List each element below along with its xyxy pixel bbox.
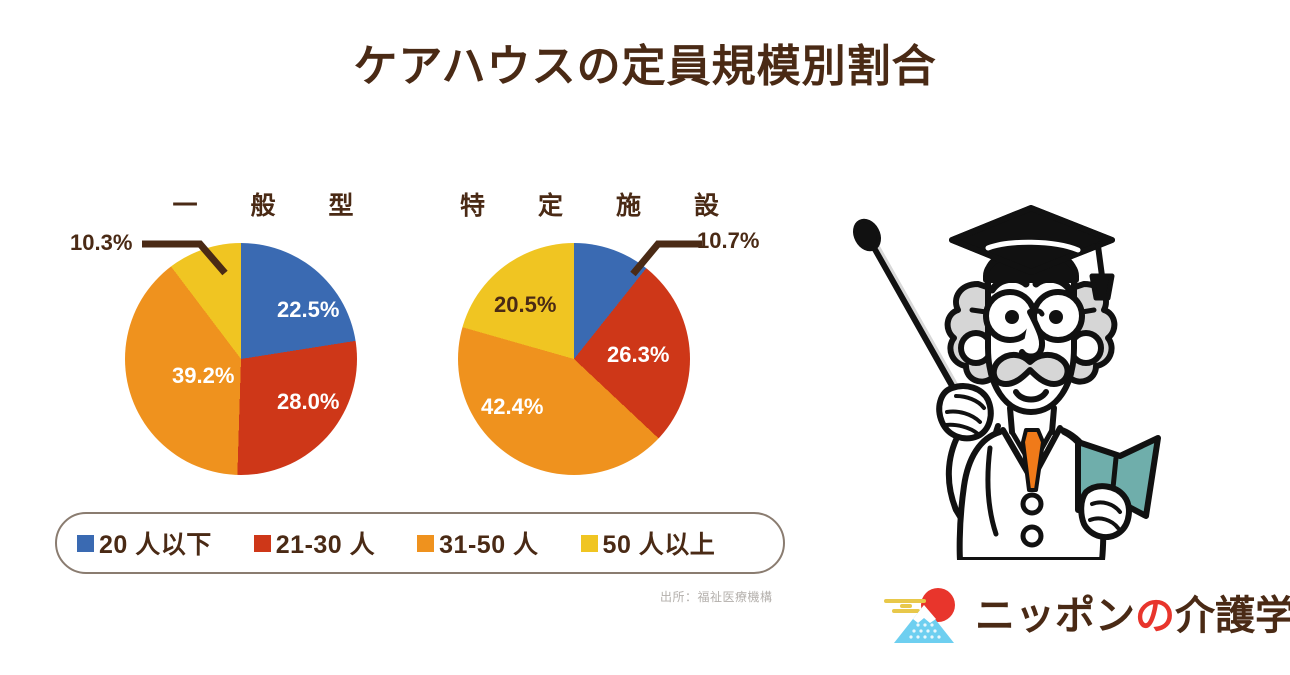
legend-label-0: 20 人以下	[99, 525, 212, 561]
legend-swatch-orange	[417, 535, 434, 552]
pie-slice-label-specified-yellow: 20.5%	[494, 292, 556, 318]
chart-title-general: 一 般 型	[160, 186, 380, 222]
pie-callout-leader-line-general	[140, 235, 260, 285]
pie-slice-label-specified-orange: 42.4%	[481, 394, 543, 420]
pie-slice-label-general-blue: 22.5%	[277, 297, 339, 323]
legend-swatch-yellow	[581, 535, 598, 552]
pie-slice-label-general-orange: 39.2%	[172, 363, 234, 389]
legend-swatch-blue	[77, 535, 94, 552]
pie-slice-label-specified-red: 26.3%	[607, 342, 669, 368]
logo-text-accent: の	[1135, 594, 1175, 638]
legend: 20 人以下 21-30 人 31-50 人 50 人以上	[55, 512, 785, 574]
logo-text: ニッポンの介護学	[975, 583, 1290, 641]
chart-title-specified: 特 定 施 設	[460, 186, 720, 222]
pie-callout-label-general-yellow: 10.3%	[70, 230, 132, 256]
professor-svg	[840, 180, 1200, 560]
legend-label-3: 50 人以上	[603, 525, 716, 561]
pointer-stick-icon	[850, 217, 962, 398]
mount-fuji-sunrise-icon	[880, 587, 975, 645]
legend-item-3[interactable]: 50 人以上	[581, 525, 716, 561]
pie-slice-label-general-red: 28.0%	[277, 389, 339, 415]
infographic-canvas: ケアハウスの定員規模別割合 一 般 型 22.5% 28.0% 39.2% 10…	[0, 0, 1290, 675]
legend-label-1: 21-30 人	[276, 525, 375, 561]
logo-text-part1: ニッポン	[975, 594, 1135, 638]
legend-item-1[interactable]: 21-30 人	[254, 525, 375, 561]
pie-callout-leader-line-specified	[620, 232, 710, 287]
logo-text-part2: 介護学	[1175, 594, 1290, 638]
legend-swatch-red	[254, 535, 271, 552]
legend-item-0[interactable]: 20 人以下	[77, 525, 212, 561]
legend-item-2[interactable]: 31-50 人	[417, 525, 538, 561]
page-title: ケアハウスの定員規模別割合	[0, 30, 1290, 94]
professor-illustration	[840, 180, 1200, 560]
source-note: 出所：福祉医療機構	[660, 588, 773, 605]
site-logo[interactable]: ニッポンの介護学	[880, 585, 1260, 645]
legend-label-2: 31-50 人	[439, 525, 538, 561]
